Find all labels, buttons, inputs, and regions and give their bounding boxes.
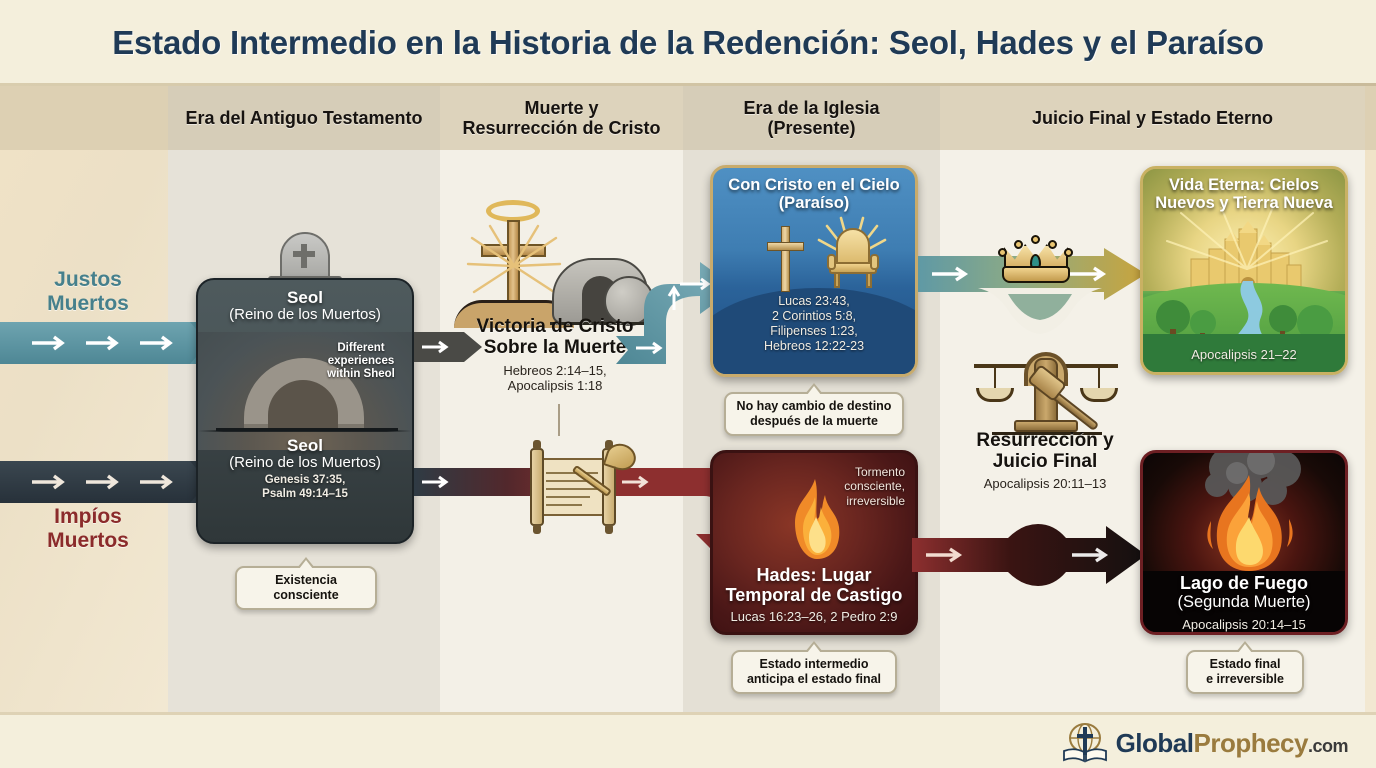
sheol-divider bbox=[198, 430, 412, 432]
hades-callout-line2: anticipa el estado final bbox=[743, 672, 885, 687]
trumpet-icon bbox=[574, 442, 636, 502]
hades-note-line1: Tormento bbox=[823, 465, 905, 479]
column-header-judgment: Juicio Final y Estado Eterno bbox=[940, 86, 1365, 150]
lake-callout-line1: Estado final bbox=[1198, 657, 1292, 672]
heaven-ref-0: Lucas 23:43, bbox=[713, 294, 915, 309]
hades-title: Hades: Lugar Temporal de Castigo bbox=[713, 565, 915, 605]
hades-refs: Lucas 16:23–26, 2 Pedro 2:9 bbox=[713, 609, 915, 625]
column-header-spacer-left bbox=[0, 86, 168, 150]
crown-icon bbox=[998, 238, 1074, 288]
infographic-root: Estado Intermedio en la Historia de la R… bbox=[0, 0, 1376, 768]
eternal-life-title-line1: Vida Eterna: Cielos bbox=[1143, 176, 1345, 194]
sheol-top-title: Seol bbox=[198, 288, 412, 307]
victory-ref-line2: Apocalipsis 1:18 bbox=[508, 378, 603, 393]
brand-text: GlobalProphecy.com bbox=[1116, 728, 1348, 759]
label-wicked-line2: Muertos bbox=[8, 529, 168, 553]
lake-title-line1: Lago de Fuego bbox=[1143, 573, 1345, 593]
label-righteous-line2: Muertos bbox=[8, 292, 168, 316]
brand-part2: Prophecy bbox=[1193, 728, 1308, 758]
sheol-top-text: Seol (Reino de los Muertos) bbox=[198, 288, 412, 324]
heaven-callout: No hay cambio de destino después de la m… bbox=[724, 392, 904, 436]
judgment-block: Resurrección y Juicio Final Apocalipsis … bbox=[952, 430, 1138, 491]
sheol-bottom-title: Seol bbox=[198, 436, 412, 455]
sheol-panel[interactable]: Seol (Reino de los Muertos) Different ex… bbox=[196, 278, 414, 544]
hades-title-line2: Temporal de Castigo bbox=[713, 585, 915, 605]
sheol-ref-line1: Genesis 37:35, bbox=[265, 474, 346, 486]
eternal-life-title-line2: Nuevos y Tierra Nueva bbox=[1143, 194, 1345, 212]
heaven-panel[interactable]: Con Cristo en el Cielo (Paraíso) Lucas 2… bbox=[710, 165, 918, 377]
column-header-strip: Era del Antiguo Testamento Muerte y Resu… bbox=[0, 86, 1376, 150]
lake-callout-line2: e irreversible bbox=[1198, 672, 1292, 687]
hades-callout: Estado intermedio anticipa el estado fin… bbox=[731, 650, 897, 694]
fire-smoke-icon bbox=[1193, 475, 1305, 573]
footer-bar: GlobalProphecy.com bbox=[0, 712, 1376, 768]
heaven-title-line1: Con Cristo en el Cielo bbox=[713, 176, 915, 194]
heaven-ref-2: Filipenses 1:23, bbox=[713, 324, 915, 339]
eternal-life-refs: Apocalipsis 21–22 bbox=[1143, 347, 1345, 363]
scroll-trumpet-icon bbox=[522, 440, 632, 536]
column-header-ot-label: Era del Antiguo Testamento bbox=[185, 108, 422, 128]
wicked-arrow-chevrons bbox=[30, 472, 180, 492]
column-header-judgment-label: Juicio Final y Estado Eterno bbox=[1032, 108, 1273, 128]
column-header-christ-line2: Resurrección de Cristo bbox=[462, 118, 660, 138]
sheol-callout-text: Existencia consciente bbox=[273, 573, 338, 602]
lake-of-fire-title: Lago de Fuego (Segunda Muerte) bbox=[1143, 573, 1345, 612]
sheol-bottom-refs: Genesis 37:35, Psalm 49:14–15 bbox=[198, 474, 412, 502]
judgment-title-line1: Resurrección y bbox=[952, 430, 1138, 451]
sheol-bottom-subtitle: (Reino de los Muertos) bbox=[198, 455, 412, 472]
righteous-arrow-chevrons bbox=[30, 333, 180, 353]
eternal-life-panel[interactable]: Vida Eterna: Cielos Nuevos y Tierra Nuev… bbox=[1140, 166, 1348, 375]
cross-icon bbox=[765, 226, 805, 292]
hades-to-lake-arrow bbox=[912, 524, 1148, 586]
heaven-title-line2: (Paraíso) bbox=[713, 194, 915, 212]
sheol-ref-line2: Psalm 49:14–15 bbox=[262, 488, 348, 500]
heaven-refs: Lucas 23:43, 2 Corintios 5:8, Filipenses… bbox=[713, 294, 915, 354]
column-header-church-line2: (Presente) bbox=[767, 118, 855, 138]
hades-callout-line1: Estado intermedio bbox=[743, 657, 885, 672]
column-header-christ: Muerte y Resurrección de Cristo bbox=[440, 86, 683, 150]
sheol-callout: Existencia consciente bbox=[235, 566, 377, 610]
sheol-to-victory-chevron bbox=[420, 337, 454, 357]
hades-panel[interactable]: Tormento consciente, irreversible Hades:… bbox=[710, 450, 918, 635]
column-header-church-line1: Era de la Iglesia bbox=[743, 98, 879, 118]
lake-of-fire-callout: Estado final e irreversible bbox=[1186, 650, 1304, 694]
judgment-refs: Apocalipsis 20:11–13 bbox=[952, 476, 1138, 491]
background-band-left bbox=[0, 86, 168, 712]
hades-note-line2: consciente, bbox=[823, 479, 905, 493]
heaven-callout-line1: No hay cambio de destino bbox=[736, 399, 892, 414]
throne-icon bbox=[827, 228, 879, 292]
background-band-christ bbox=[440, 86, 683, 712]
lake-title-line2: (Segunda Muerte) bbox=[1143, 593, 1345, 611]
sheol-to-hades-chevrons bbox=[420, 472, 454, 492]
column-header-christ-line1: Muerte y bbox=[524, 98, 598, 118]
column-header-ot: Era del Antiguo Testamento bbox=[168, 86, 440, 150]
column-header-christ-label: Muerte y Resurrección de Cristo bbox=[462, 98, 660, 138]
label-wicked-dead: Impíos Muertos bbox=[8, 505, 168, 552]
sheol-top-subtitle: (Reino de los Muertos) bbox=[198, 307, 412, 324]
eternal-life-title: Vida Eterna: Cielos Nuevos y Tierra Nuev… bbox=[1143, 176, 1345, 213]
heaven-title: Con Cristo en el Cielo (Paraíso) bbox=[713, 176, 915, 213]
hades-note-line3: irreversible bbox=[823, 494, 905, 508]
title-bar: Estado Intermedio en la Historia de la R… bbox=[0, 0, 1376, 86]
brand-logo[interactable]: GlobalProphecy.com bbox=[1062, 723, 1348, 763]
page-title: Estado Intermedio en la Historia de la R… bbox=[112, 24, 1264, 62]
victory-connector-line bbox=[558, 404, 560, 436]
label-wicked-line1: Impíos bbox=[8, 505, 168, 529]
lake-of-fire-refs: Apocalipsis 20:14–15 bbox=[1143, 617, 1345, 633]
bible-globe-icon bbox=[1062, 723, 1108, 763]
lake-of-fire-panel[interactable]: Lago de Fuego (Segunda Muerte) Apocalips… bbox=[1140, 450, 1348, 635]
brand-part3: .com bbox=[1308, 736, 1348, 756]
heaven-callout-line2: después de la muerte bbox=[736, 414, 892, 429]
column-header-church-label: Era de la Iglesia (Presente) bbox=[743, 98, 879, 138]
sheol-bottom-text: Seol (Reino de los Muertos) Genesis 37:3… bbox=[198, 436, 412, 501]
label-righteous-dead: Justos Muertos bbox=[8, 268, 168, 315]
sheol-inner-note: Different experiences within Sheol bbox=[318, 342, 404, 381]
heaven-ref-1: 2 Corintios 5:8, bbox=[713, 309, 915, 324]
victory-ref-line1: Hebreos 2:14–15, bbox=[503, 363, 606, 378]
column-header-spacer-right bbox=[1365, 86, 1376, 150]
background-band-right bbox=[1365, 86, 1376, 712]
heaven-ref-3: Hebreos 12:22-23 bbox=[713, 339, 915, 354]
hades-title-line1: Hades: Lugar bbox=[713, 565, 915, 585]
heaven-to-eternal-arrow-branch bbox=[978, 288, 1102, 340]
judgment-title-line2: Juicio Final bbox=[952, 451, 1138, 472]
hades-note: Tormento consciente, irreversible bbox=[823, 465, 905, 508]
brand-part1: Global bbox=[1116, 728, 1194, 758]
column-header-church: Era de la Iglesia (Presente) bbox=[683, 86, 940, 150]
label-righteous-line1: Justos bbox=[8, 268, 168, 292]
